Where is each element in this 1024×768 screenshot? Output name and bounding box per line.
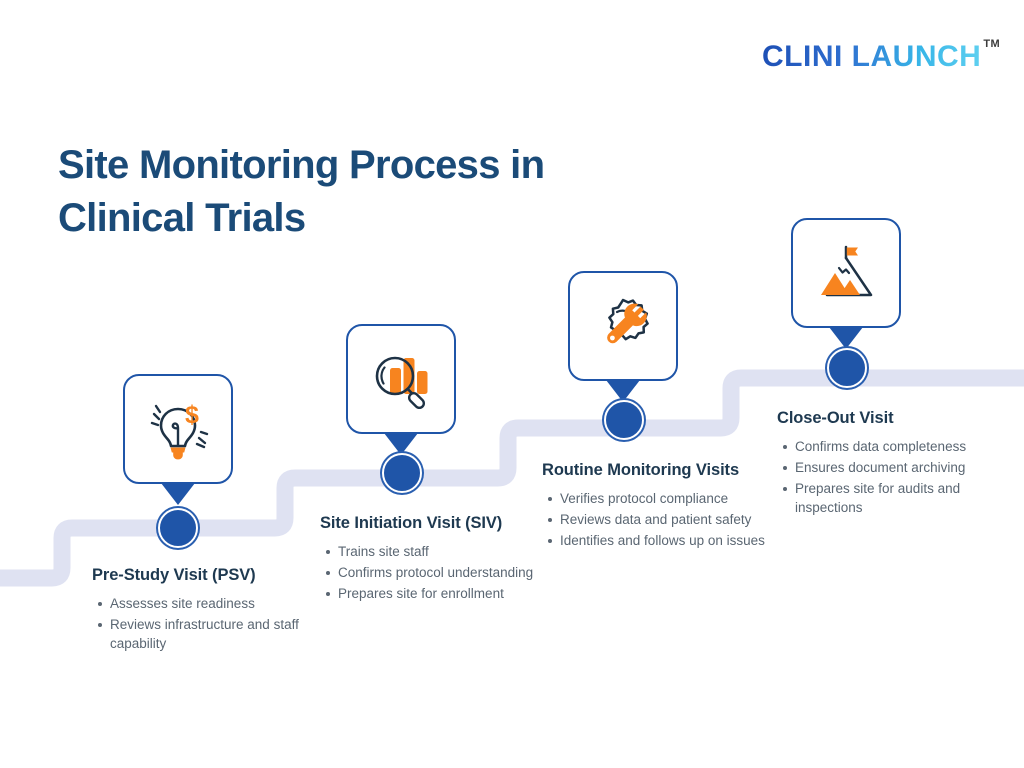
step-4-bullets: Confirms data completeness Ensures docum… — [777, 437, 1012, 518]
list-item: Verifies protocol compliance — [560, 489, 782, 508]
list-item: Prepares site for audits and inspections — [795, 479, 1012, 517]
step-2-node-marker[interactable] — [382, 453, 422, 493]
step-2-icon-card[interactable] — [346, 324, 456, 434]
step-3-text: Routine Monitoring Visits Verifies proto… — [542, 461, 782, 552]
step-1-text: Pre-Study Visit (PSV) Assesses site read… — [92, 566, 307, 655]
step-4-text: Close-Out Visit Confirms data completene… — [777, 409, 1012, 520]
step-3-node-marker[interactable] — [604, 400, 644, 440]
list-item: Confirms protocol understanding — [338, 563, 545, 582]
list-item: Ensures document archiving — [795, 458, 1012, 477]
gear-wrench-icon — [586, 289, 660, 363]
step-2-heading: Site Initiation Visit (SIV) — [320, 514, 545, 533]
list-item: Trains site staff — [338, 542, 545, 561]
list-item: Assesses site readiness — [110, 594, 307, 613]
step-1-heading: Pre-Study Visit (PSV) — [92, 566, 307, 585]
step-3-heading: Routine Monitoring Visits — [542, 461, 782, 480]
list-item: Reviews infrastructure and staff capabil… — [110, 615, 307, 653]
step-3-icon-card[interactable] — [568, 271, 678, 381]
step-2-card-pointer — [384, 433, 418, 455]
list-item: Reviews data and patient safety — [560, 510, 782, 529]
step-4-heading: Close-Out Visit — [777, 409, 1012, 428]
brand-name: CLINI LAUNCH — [762, 42, 981, 72]
lightbulb-dollar-icon: $ — [141, 392, 215, 466]
step-1-card-pointer — [161, 483, 195, 505]
list-item: Prepares site for enrollment — [338, 584, 545, 603]
step-1-icon-card[interactable]: $ — [123, 374, 233, 484]
step-3-card-pointer — [606, 380, 640, 402]
magnifier-bar-chart-icon — [364, 342, 438, 416]
step-1-bullets: Assesses site readiness Reviews infrastr… — [92, 594, 307, 653]
step-4-icon-card[interactable] — [791, 218, 901, 328]
step-1-node-marker[interactable] — [158, 508, 198, 548]
step-2-text: Site Initiation Visit (SIV) Trains site … — [320, 514, 545, 605]
infographic-canvas: CLINI LAUNCH TM Site Monitoring Process … — [0, 0, 1024, 768]
list-item: Confirms data completeness — [795, 437, 1012, 456]
mountain-flag-icon — [809, 236, 883, 310]
step-3-bullets: Verifies protocol compliance Reviews dat… — [542, 489, 782, 550]
svg-text:$: $ — [185, 401, 199, 429]
step-4-node-marker[interactable] — [827, 348, 867, 388]
page-title-line-2: Clinical Trials — [58, 192, 678, 245]
brand-logo: CLINI LAUNCH TM — [762, 42, 1000, 72]
page-title: Site Monitoring Process in Clinical Tria… — [58, 139, 678, 245]
step-2-bullets: Trains site staff Confirms protocol unde… — [320, 542, 545, 603]
page-title-line-1: Site Monitoring Process in — [58, 139, 678, 192]
step-4-card-pointer — [829, 327, 863, 349]
trademark-mark: TM — [983, 38, 1000, 50]
list-item: Identifies and follows up on issues — [560, 531, 782, 550]
